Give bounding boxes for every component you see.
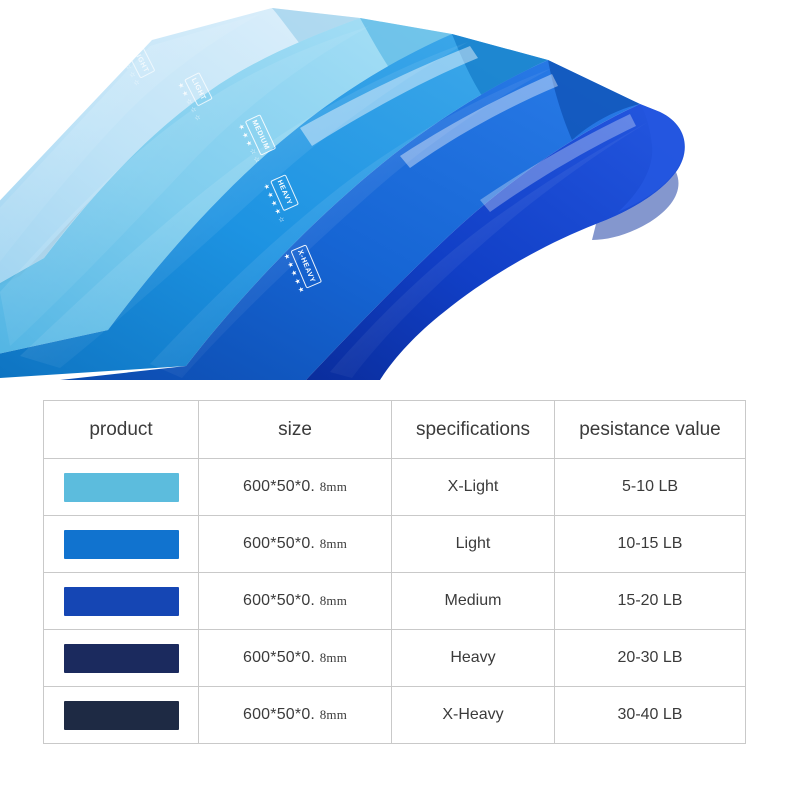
size-value: 600*50*0. 8mm <box>243 535 347 552</box>
table-header-row: product size specifications pesistance v… <box>44 401 746 459</box>
header-product: product <box>44 401 199 459</box>
product-swatch-cell <box>44 573 199 630</box>
header-resistance: pesistance value <box>555 401 746 459</box>
header-specifications: specifications <box>392 401 555 459</box>
table-row: 600*50*0. 8mmX-Heavy30-40 LB <box>44 687 746 744</box>
size-unit: 8mm <box>320 707 347 722</box>
specification-cell: Heavy <box>392 630 555 687</box>
size-cell: 600*50*0. 8mm <box>199 459 392 516</box>
size-cell: 600*50*0. 8mm <box>199 687 392 744</box>
color-swatch <box>64 473 179 502</box>
size-value: 600*50*0. 8mm <box>243 649 347 666</box>
table-row: 600*50*0. 8mmHeavy20-30 LB <box>44 630 746 687</box>
size-unit: 8mm <box>320 650 347 665</box>
color-swatch <box>64 701 179 730</box>
resistance-cell: 30-40 LB <box>555 687 746 744</box>
resistance-cell: 5-10 LB <box>555 459 746 516</box>
size-unit: 8mm <box>320 536 347 551</box>
color-swatch <box>64 530 179 559</box>
resistance-cell: 20-30 LB <box>555 630 746 687</box>
size-value: 600*50*0. 8mm <box>243 478 347 495</box>
product-swatch-cell <box>44 630 199 687</box>
product-swatch-cell <box>44 516 199 573</box>
product-photo: ★☆☆☆☆ X-LIGHT ★★☆☆☆ LIGHT ★★★☆☆ MEDIUM ★… <box>0 0 800 380</box>
specification-cell: X-Light <box>392 459 555 516</box>
table-row: 600*50*0. 8mmLight10-15 LB <box>44 516 746 573</box>
specification-cell: Light <box>392 516 555 573</box>
specification-table: product size specifications pesistance v… <box>43 400 746 744</box>
size-value: 600*50*0. 8mm <box>243 706 347 723</box>
size-cell: 600*50*0. 8mm <box>199 630 392 687</box>
resistance-cell: 15-20 LB <box>555 573 746 630</box>
header-size: size <box>199 401 392 459</box>
product-swatch-cell <box>44 459 199 516</box>
table-row: 600*50*0. 8mmMedium15-20 LB <box>44 573 746 630</box>
size-cell: 600*50*0. 8mm <box>199 573 392 630</box>
size-value: 600*50*0. 8mm <box>243 592 347 609</box>
size-cell: 600*50*0. 8mm <box>199 516 392 573</box>
specification-cell: X-Heavy <box>392 687 555 744</box>
color-swatch <box>64 587 179 616</box>
resistance-cell: 10-15 LB <box>555 516 746 573</box>
color-swatch <box>64 644 179 673</box>
resistance-bands-illustration <box>0 0 800 380</box>
size-unit: 8mm <box>320 479 347 494</box>
size-unit: 8mm <box>320 593 347 608</box>
table-body: 600*50*0. 8mmX-Light5-10 LB600*50*0. 8mm… <box>44 459 746 744</box>
product-swatch-cell <box>44 687 199 744</box>
table-row: 600*50*0. 8mmX-Light5-10 LB <box>44 459 746 516</box>
specification-cell: Medium <box>392 573 555 630</box>
